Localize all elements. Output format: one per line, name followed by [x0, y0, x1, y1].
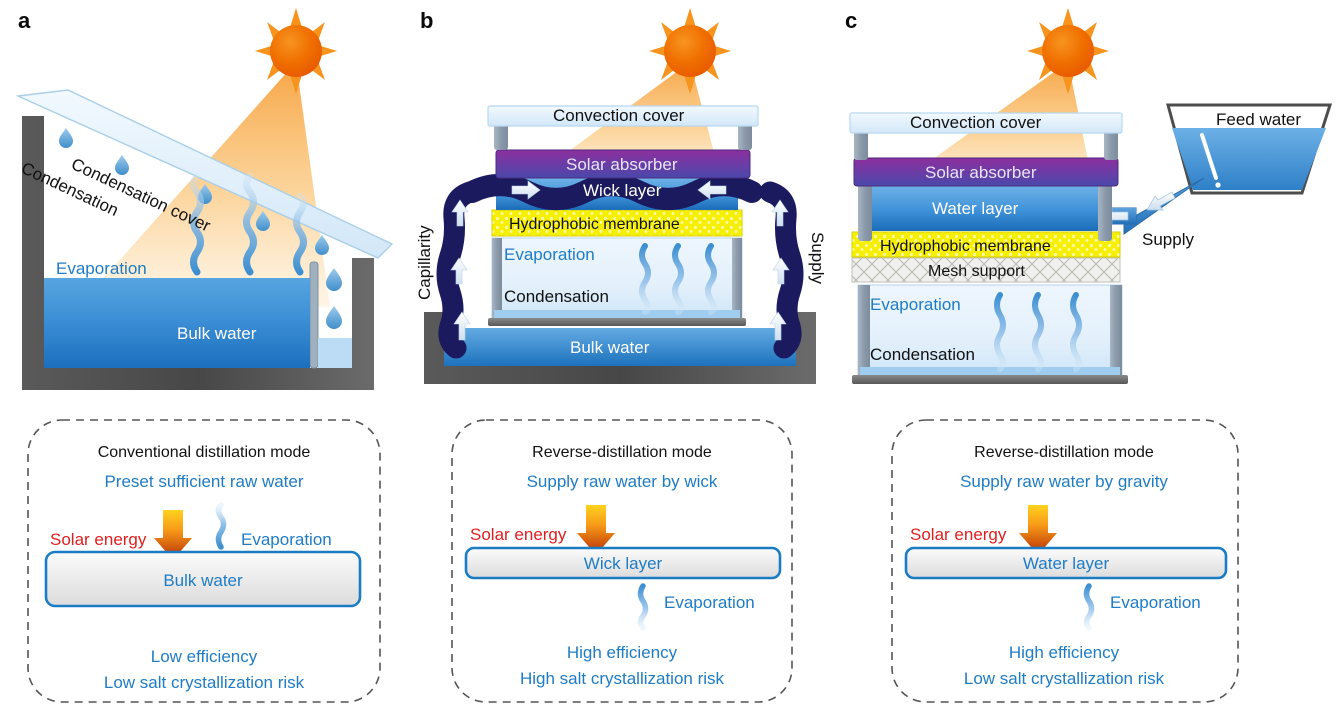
sun-icon: [649, 8, 731, 94]
sun-icon: [1027, 8, 1109, 94]
label-hydrophobic-membrane-c: Hydrophobic membrane: [880, 238, 1051, 255]
panel-b-diagram: Bulk water Evaporation Condensation Hydr…: [415, 8, 827, 384]
collection-wall-a: [310, 262, 318, 368]
chamber-post-left-b: [492, 238, 502, 318]
label-condensation-b: Condensation: [504, 287, 609, 306]
summary-box-a: Conventional distillation mode Preset su…: [28, 420, 380, 702]
summary-mode-a: Conventional distillation mode: [98, 444, 311, 461]
label-evaporation-b: Evaporation: [504, 245, 595, 264]
label-bulk-water-b: Bulk water: [570, 338, 650, 357]
summary-box-b: Reverse-distillation mode Supply raw wat…: [452, 420, 792, 702]
summary-evaporation-b: Evaporation: [664, 593, 755, 612]
label-feed-water-c: Feed water: [1216, 110, 1301, 129]
summary-evaporation-c: Evaporation: [1110, 593, 1201, 612]
label-convection-cover-b: Convection cover: [553, 106, 685, 125]
label-convection-cover-c: Convection cover: [910, 113, 1042, 132]
label-hydrophobic-membrane-b: Hydrophobic membrane: [509, 216, 680, 233]
label-solar-absorber-b: Solar absorber: [566, 155, 678, 174]
summary-outcome-b-1: High salt crystallization risk: [520, 669, 725, 688]
summary-outcome-c-0: High efficiency: [1009, 643, 1120, 662]
bulk-water-a: [44, 278, 310, 368]
summary-layer-label-b: Wick layer: [584, 554, 663, 573]
label-condensation-c: Condensation: [870, 345, 975, 364]
summary-outcome-c-1: Low salt crystallization risk: [964, 669, 1165, 688]
summary-outcome-a-1: Low salt crystallization risk: [104, 673, 305, 692]
vapor-squiggle-icon: [219, 505, 224, 547]
label-capillarity-b: Capillarity: [415, 225, 434, 300]
panel-c-diagram: Feed water Supply: [850, 8, 1330, 384]
label-evaporation-a: Evaporation: [56, 259, 147, 278]
summary-supply-b: Supply raw water by wick: [527, 472, 718, 491]
summary-evaporation-a: Evaporation: [241, 530, 332, 549]
vapor-squiggle-icon: [641, 586, 646, 628]
label-evaporation-c: Evaporation: [870, 295, 961, 314]
summary-supply-c: Supply raw water by gravity: [960, 472, 1168, 491]
label-wick-layer-b: Wick layer: [583, 181, 662, 200]
summary-solar-energy-c: Solar energy: [910, 525, 1007, 544]
label-supply-c: Supply: [1142, 230, 1194, 249]
condensate-film-b: [494, 310, 740, 318]
label-solar-absorber-c: Solar absorber: [925, 163, 1037, 182]
label-bulk-water-a: Bulk water: [177, 324, 257, 343]
distillate-collected-a: [318, 338, 352, 368]
label-supply-b: Supply: [808, 232, 827, 284]
summary-solar-energy-a: Solar energy: [50, 530, 147, 549]
chamber-base-b: [488, 318, 746, 326]
sun-icon: [255, 8, 337, 94]
summary-mode-c: Reverse-distillation mode: [974, 444, 1154, 461]
condensate-film-c: [860, 367, 1120, 375]
water-post-right-c: [1098, 185, 1112, 241]
summary-box-c: Reverse-distillation mode Supply raw wat…: [892, 420, 1238, 702]
figure-root: a b c: [0, 0, 1340, 722]
panel-a-diagram: Condensation Condensation cover Evaporat…: [18, 8, 392, 390]
summary-layer-label-a: Bulk water: [163, 571, 243, 590]
summary-supply-a: Preset sufficient raw water: [104, 472, 303, 491]
summary-mode-b: Reverse-distillation mode: [532, 444, 712, 461]
label-water-layer-c: Water layer: [932, 199, 1019, 218]
chamber-post-right-b: [732, 238, 742, 318]
chamber-base-c: [852, 375, 1128, 384]
chamber-post-right-c: [1110, 285, 1122, 375]
feed-water-tank-c: Feed water: [1168, 105, 1330, 193]
water-post-left-c: [858, 185, 872, 241]
summary-layer-label-c: Water layer: [1023, 554, 1110, 573]
summary-outcome-b-0: High efficiency: [567, 643, 678, 662]
chamber-post-left-c: [858, 285, 870, 375]
label-mesh-support-c: Mesh support: [928, 263, 1025, 280]
summary-solar-energy-b: Solar energy: [470, 525, 567, 544]
summary-outcome-a-0: Low efficiency: [151, 647, 258, 666]
vapor-squiggle-icon: [1087, 586, 1092, 628]
feed-level-dot-icon: [1215, 182, 1220, 187]
figure-canvas: Condensation Condensation cover Evaporat…: [0, 0, 1340, 722]
